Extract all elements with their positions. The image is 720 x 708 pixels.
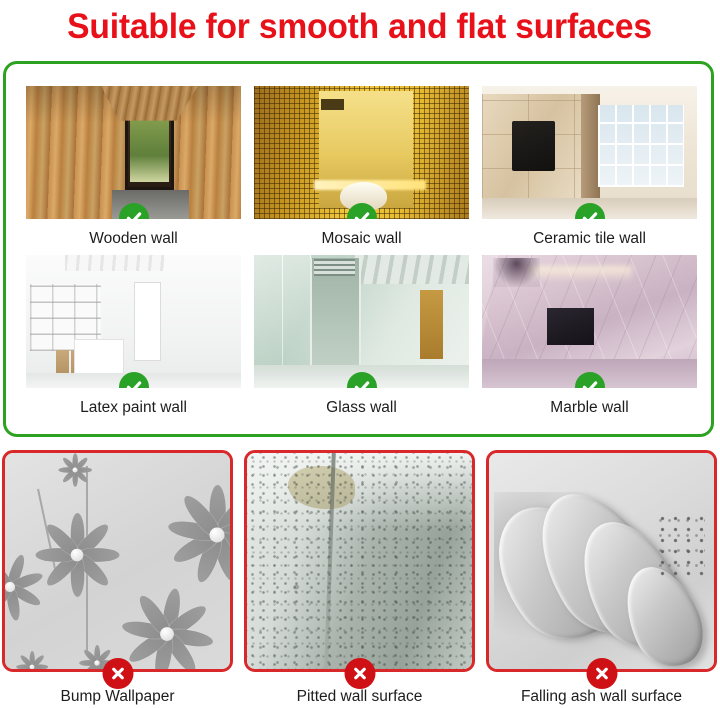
unsuitable-item-label: Bump Wallpaper xyxy=(2,688,233,705)
ceramic-tile-wall-photo xyxy=(482,86,697,219)
wooden-wall-photo xyxy=(26,86,241,219)
mosaic-wall-photo xyxy=(254,86,469,219)
suitable-item-glass-wall[interactable]: Glass wall xyxy=(254,255,469,416)
marble-wall-photo xyxy=(482,255,697,388)
suitable-item-label: Mosaic wall xyxy=(254,230,469,247)
suitable-item-label: Glass wall xyxy=(254,399,469,416)
pitted-wall-photo xyxy=(244,450,475,672)
suitable-item-wooden-wall[interactable]: Wooden wall xyxy=(26,86,241,247)
unsuitable-item-falling-ash-wall-surface[interactable]: Falling ash wall surface xyxy=(486,450,717,705)
suitable-surfaces-panel: Wooden wall Mosaic wall xyxy=(3,61,714,437)
suitable-row-1: Wooden wall Mosaic wall xyxy=(26,86,697,247)
suitable-item-ceramic-tile-wall[interactable]: Ceramic tile wall xyxy=(482,86,697,247)
suitable-row-2: Latex paint wall xyxy=(26,255,697,416)
page-header: Suitable for smooth and flat surfaces xyxy=(0,0,720,52)
page-title: Suitable for smooth and flat surfaces xyxy=(68,9,653,44)
cross-icon xyxy=(102,658,133,689)
latex-paint-wall-photo xyxy=(26,255,241,388)
unsuitable-item-label: Falling ash wall surface xyxy=(486,688,717,705)
bump-wallpaper-photo xyxy=(2,450,233,672)
suitable-item-latex-paint-wall[interactable]: Latex paint wall xyxy=(26,255,241,416)
unsuitable-item-bump-wallpaper[interactable]: Bump Wallpaper xyxy=(2,450,233,705)
unsuitable-item-label: Pitted wall surface xyxy=(244,688,475,705)
suitable-surfaces-grid: Wooden wall Mosaic wall xyxy=(26,86,697,416)
suitable-item-label: Ceramic tile wall xyxy=(482,230,697,247)
suitable-item-marble-wall[interactable]: Marble wall xyxy=(482,255,697,416)
suitable-item-label: Latex paint wall xyxy=(26,399,241,416)
cross-icon xyxy=(344,658,375,689)
suitable-item-label: Wooden wall xyxy=(26,230,241,247)
unsuitable-surfaces-row: Bump Wallpaper Pitted wall surface xyxy=(2,450,718,705)
glass-wall-photo xyxy=(254,255,469,388)
cross-icon xyxy=(586,658,617,689)
suitable-item-label: Marble wall xyxy=(482,399,697,416)
suitable-item-mosaic-wall[interactable]: Mosaic wall xyxy=(254,86,469,247)
falling-ash-wall-photo xyxy=(486,450,717,672)
unsuitable-item-pitted-wall-surface[interactable]: Pitted wall surface xyxy=(244,450,475,705)
